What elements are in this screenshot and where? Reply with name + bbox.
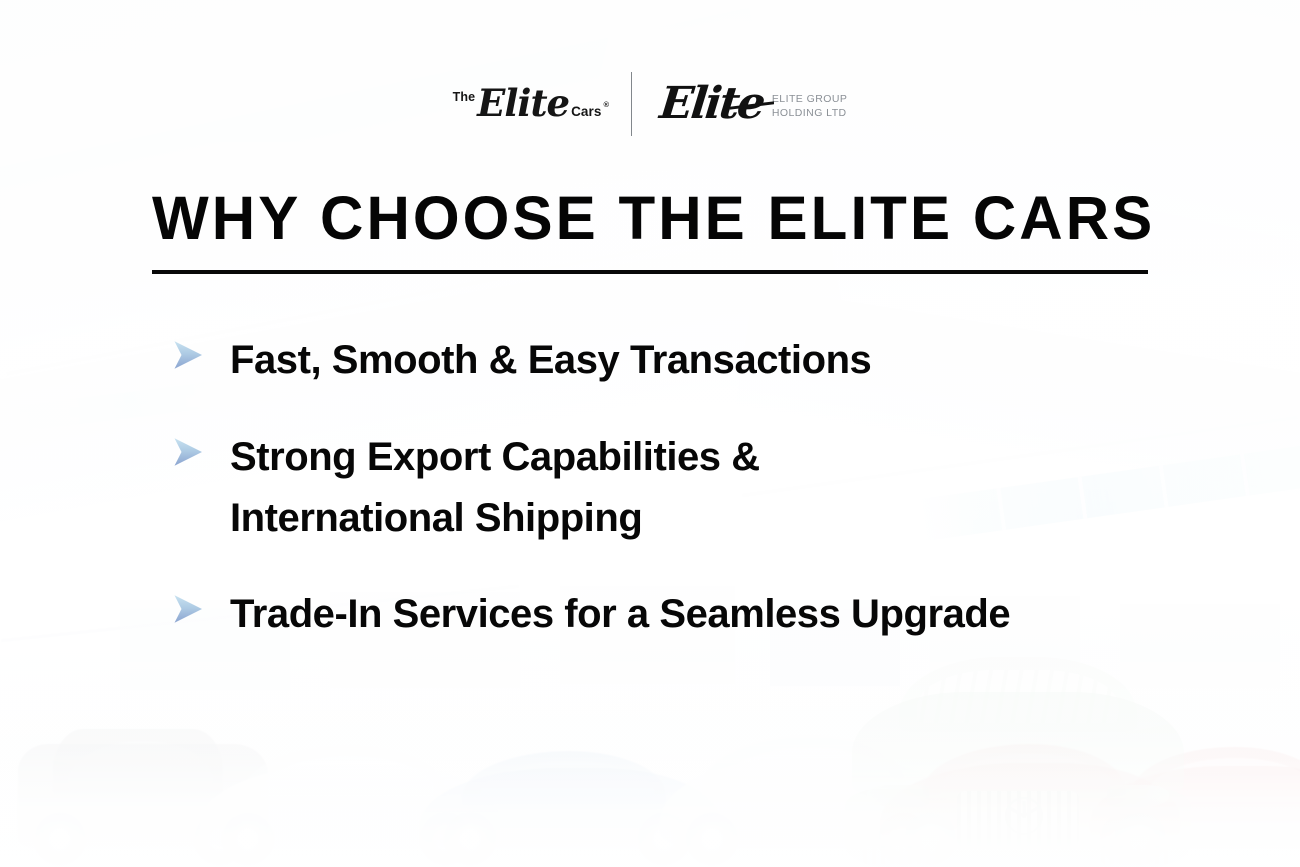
elite-group-holding-logo: Elite ELITE GROUP HOLDING LTD [632,86,847,122]
logo-row: The Elite Cars ® Elite ELITE GROUP HOLDI… [0,72,1300,136]
registered-mark-icon: ® [604,100,610,109]
page-title: WHY CHOOSE THE ELITE CARS [152,188,1135,249]
slide-content: The Elite Cars ® Elite ELITE GROUP HOLDI… [0,0,1300,867]
list-item-label: Fast, Smooth & Easy Transactions [230,330,871,391]
logo-the-text: The [453,90,476,104]
list-item: Strong Export Capabilities & Internation… [172,427,1172,549]
logo-divider [631,72,632,136]
slide-root: The Elite Cars ® Elite ELITE GROUP HOLDI… [0,0,1300,867]
logo-cars-text: Cars [571,104,601,119]
arrow-right-icon [172,435,204,469]
arrow-right-icon [172,592,204,626]
list-item: Trade-In Services for a Seamless Upgrade [172,584,1172,645]
logo-elite-script: Elite [477,87,569,120]
elite-group-wordmark: ELITE GROUP HOLDING LTD [772,93,848,121]
benefits-list: Fast, Smooth & Easy Transactions [172,330,1172,645]
list-item-label: Trade-In Services for a Seamless Upgrade [230,584,1010,645]
elite-group-line-2: HOLDING LTD [772,107,847,119]
title-underline-rule [152,270,1148,274]
elite-group-script: Elite [658,86,765,122]
the-elite-cars-logo: The Elite Cars ® [453,87,631,120]
elite-group-line-1: ELITE GROUP [772,93,848,105]
list-item-label: Strong Export Capabilities & Internation… [230,427,930,549]
arrow-right-icon [172,338,204,372]
list-item: Fast, Smooth & Easy Transactions [172,330,1172,391]
